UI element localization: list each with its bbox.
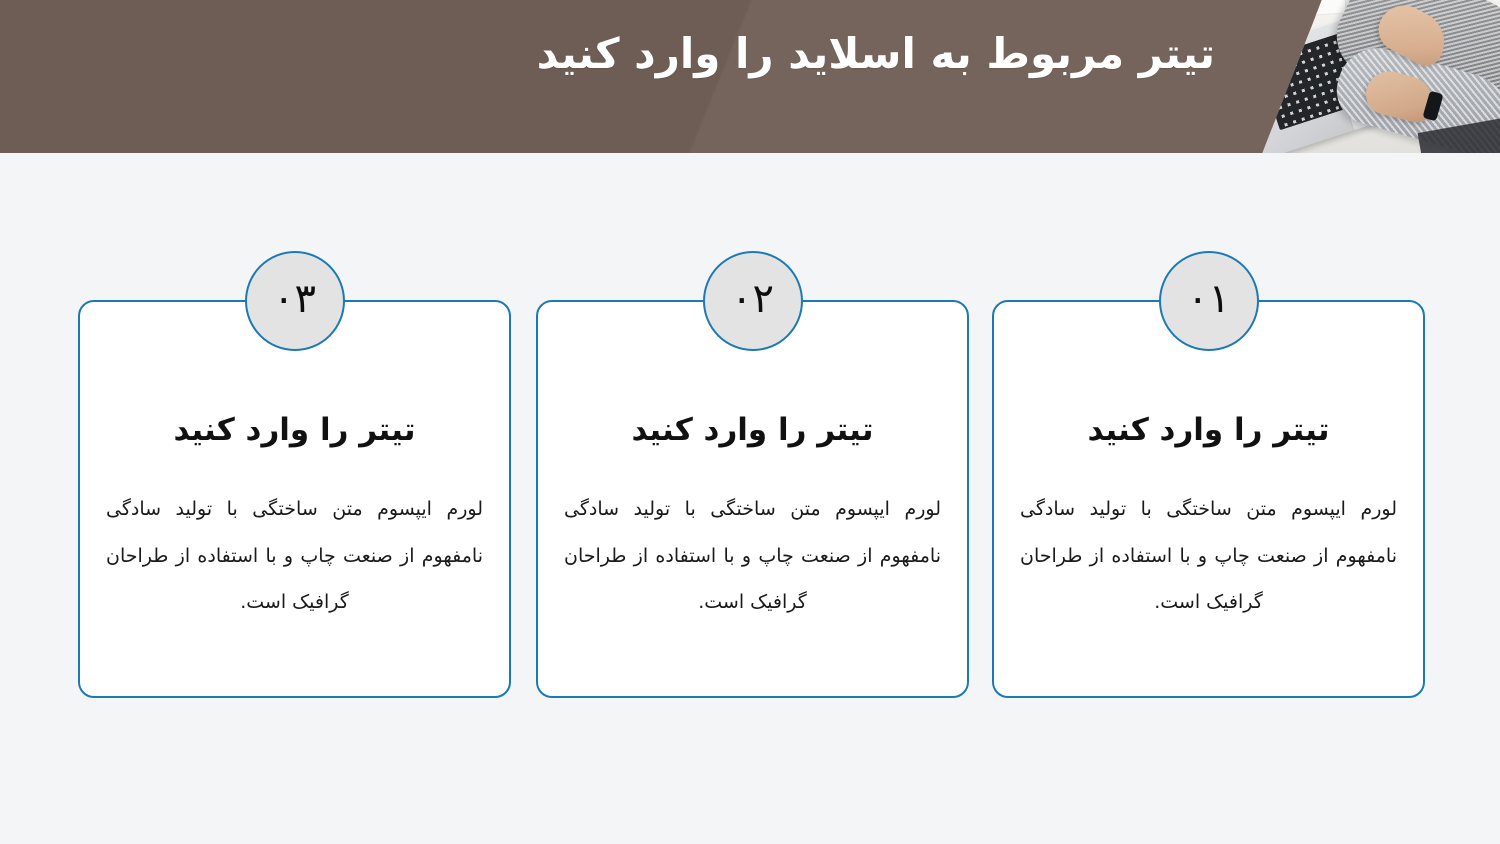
badge-number-label: ۰۲ — [731, 279, 774, 323]
slide: تیتر مربوط به اسلاید را وارد کنید ۰۱ تیت… — [0, 0, 1500, 844]
number-badge-01: ۰۱ — [1159, 251, 1259, 351]
card-title-01: تیتر را وارد کنید — [1016, 410, 1401, 450]
badge-number-label: ۰۱ — [1187, 279, 1230, 323]
card-body-02: لورم ایپسوم متن ساختگی با تولید سادگی نا… — [564, 486, 941, 626]
content-card-03[interactable]: ۰۳ تیتر را وارد کنید لورم ایپسوم متن ساخ… — [78, 300, 511, 698]
number-badge-03: ۰۳ — [245, 251, 345, 351]
card-row: ۰۱ تیتر را وارد کنید لورم ایپسوم متن ساخ… — [0, 0, 1500, 844]
badge-number-label: ۰۳ — [273, 279, 316, 323]
card-title-02: تیتر را وارد کنید — [560, 410, 945, 450]
number-badge-02: ۰۲ — [703, 251, 803, 351]
card-title-03: تیتر را وارد کنید — [102, 410, 487, 450]
card-body-03: لورم ایپسوم متن ساختگی با تولید سادگی نا… — [106, 486, 483, 626]
card-body-01: لورم ایپسوم متن ساختگی با تولید سادگی نا… — [1020, 486, 1397, 626]
content-card-02[interactable]: ۰۲ تیتر را وارد کنید لورم ایپسوم متن ساخ… — [536, 300, 969, 698]
content-card-01[interactable]: ۰۱ تیتر را وارد کنید لورم ایپسوم متن ساخ… — [992, 300, 1425, 698]
